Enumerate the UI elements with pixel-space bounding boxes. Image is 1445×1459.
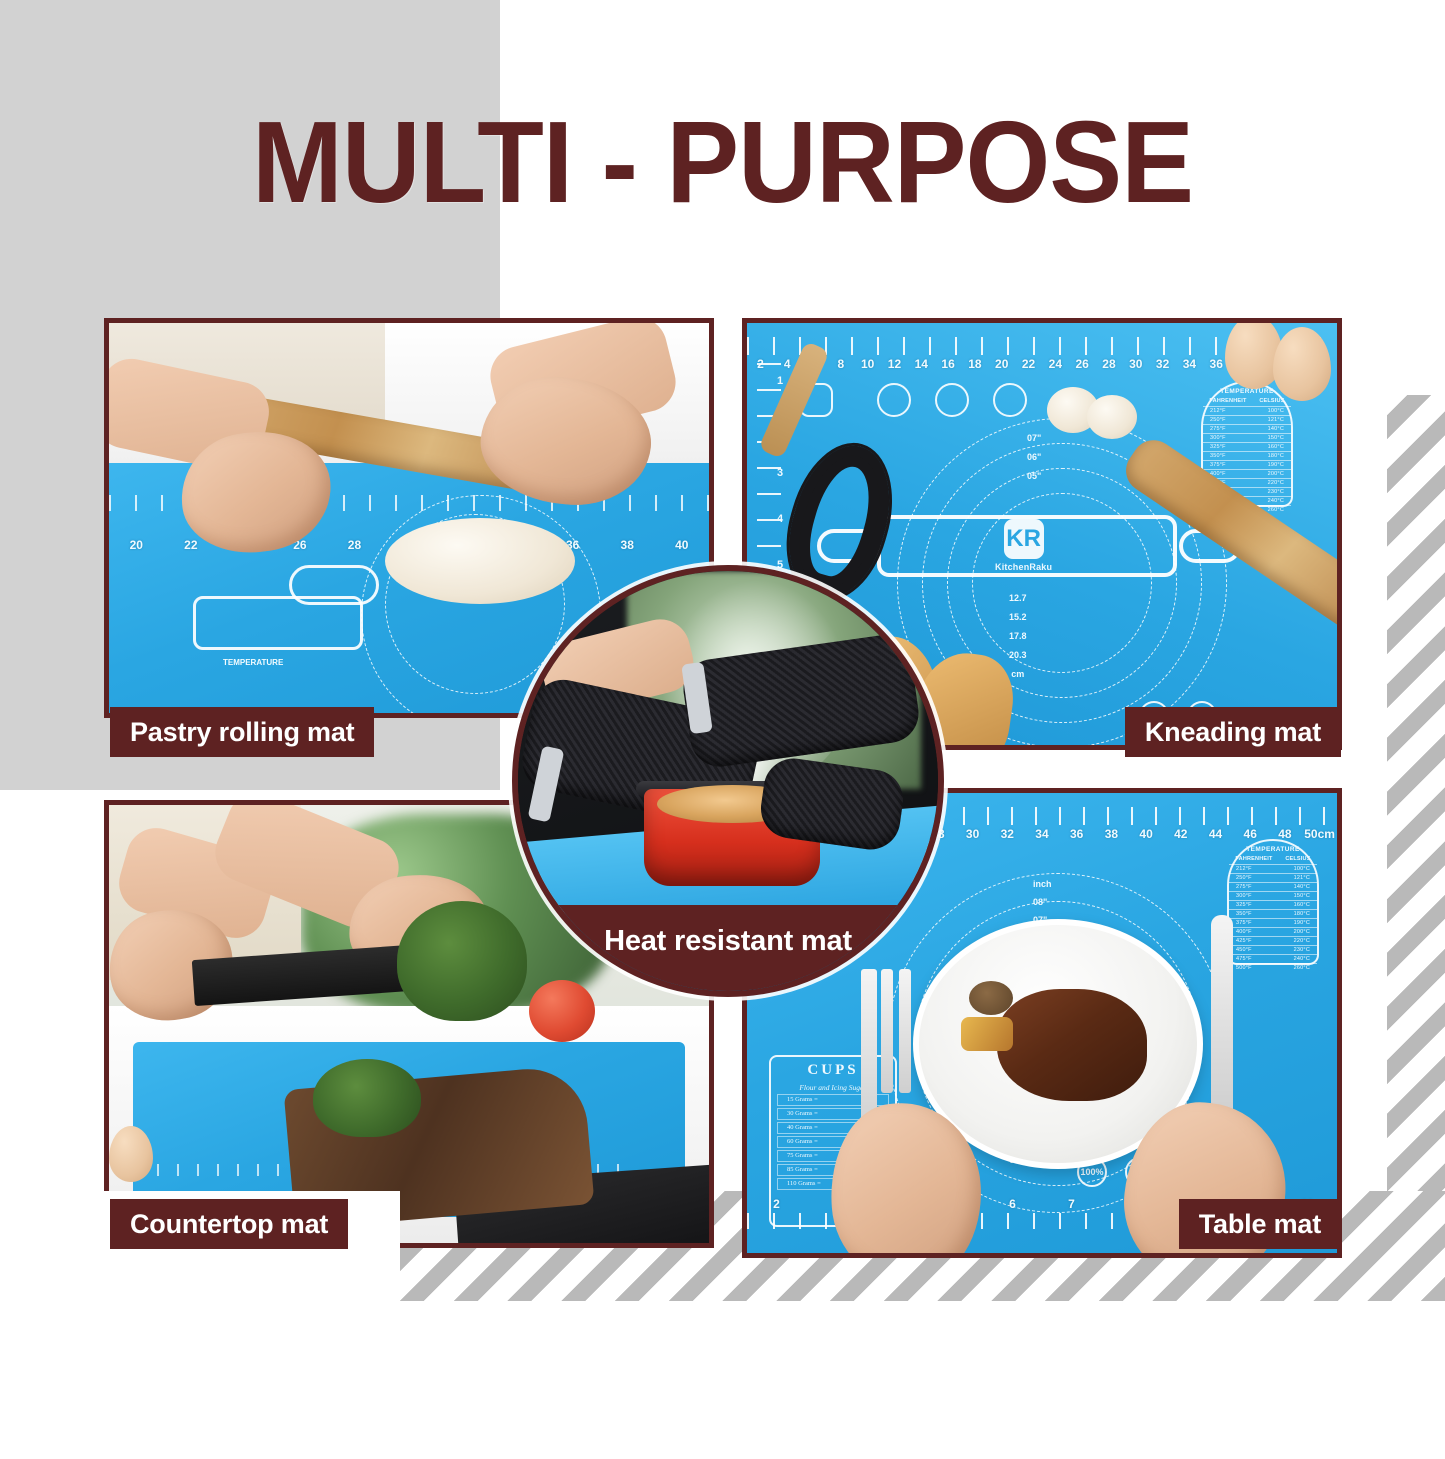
caption-table-mat: Table mat [1179,1199,1341,1249]
kneading-diameter-labels: 12.7 15.2 17.8 20.3 cm [1009,593,1027,679]
center-circle-heat-resistant: Heat resistant mat [512,565,944,997]
caption-countertop-mat: Countertop mat [110,1199,348,1249]
mat-handle-outline [289,565,379,605]
garnish-ball [969,981,1013,1015]
diagonal-stripes-right [1387,395,1445,1295]
product-infographic: MULTI - PURPOSE 20 22 24 26 28 30 32 34 … [0,0,1445,1459]
temperature-chart-columns: FAHRENHEIT CELSIUS [1229,856,1317,862]
dough-ball-2 [1087,395,1137,439]
kneading-inch-labels: 07" 06" 05" [1027,433,1041,481]
cookie-icon [993,383,1027,417]
brand-monogram: KR [1004,519,1044,559]
mat-dim-label: TEMPERATURE [223,658,283,667]
grilled-steak [997,989,1147,1101]
caption-pastry-rolling-mat: Pastry rolling mat [110,707,374,757]
caption-kneading-mat: Kneading mat [1125,707,1341,757]
broccoli-head [397,901,527,1021]
brand-name: KitchenRaku [995,562,1052,572]
temperature-chart-rows: 212°F100°C 250°F121°C 275°F140°C 300°F15… [1229,864,1317,972]
bottom-white-mask [0,1301,1445,1459]
caption-heat-resistant-mat: Heat resistant mat [518,905,938,991]
broccoli-floret [313,1059,421,1137]
table-knife [1211,915,1233,1115]
temperature-chart: TEMPERATURE FAHRENHEIT CELSIUS 212°F100°… [1227,839,1319,965]
donut-icon [877,383,911,417]
pizza-icon [935,383,969,417]
temperature-chart-columns: FAHRENHEIT CELSIUS [1203,398,1291,404]
garnish-vegetables [961,1017,1013,1051]
page-title: MULTI - PURPOSE [43,104,1401,220]
brand-logo: KR KitchenRaku [995,519,1052,572]
table-inch-labels: inch 08" 07" [1033,879,1052,925]
